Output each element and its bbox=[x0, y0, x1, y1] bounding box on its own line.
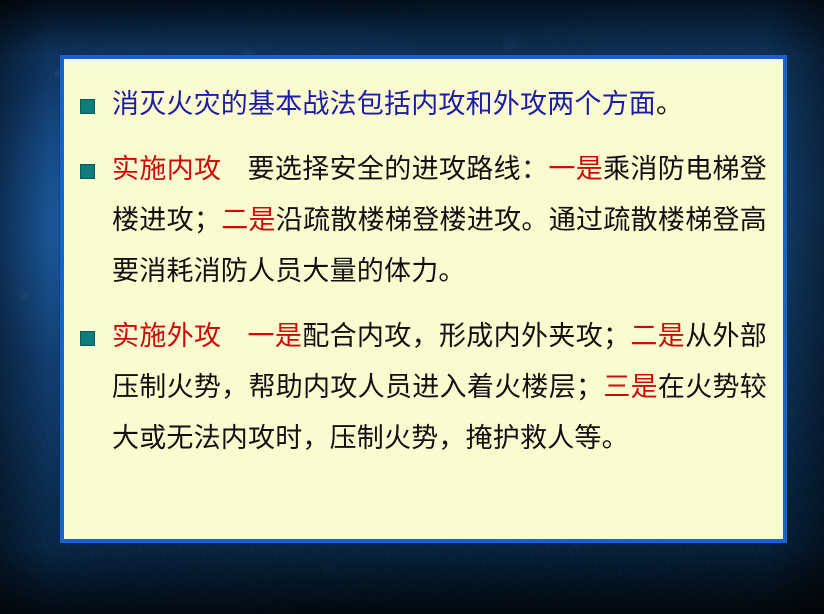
square-bullet-icon bbox=[80, 164, 95, 179]
bullet-list: 消灭火灾的基本战法包括内攻和外攻两个方面。 实施内攻要选择安全的进攻路线：一是乘… bbox=[64, 59, 783, 464]
text-run-emphasis: 一是 bbox=[247, 321, 302, 352]
list-item: 实施外攻一是配合内攻，形成内外夹攻；二是从外部压制火势，帮助内攻人员进入着火楼层… bbox=[78, 311, 767, 464]
list-item: 实施内攻要选择安全的进攻路线：一是乘消防电梯登楼进攻；二是沿疏散楼梯登楼进攻。通… bbox=[78, 144, 767, 297]
text-run-emphasis: 二是 bbox=[630, 321, 685, 352]
text-run: 消灭火灾的基本战法包括内攻和外攻两个方面 bbox=[112, 89, 656, 120]
content-panel: 消灭火灾的基本战法包括内攻和外攻两个方面。 实施内攻要选择安全的进攻路线：一是乘… bbox=[60, 55, 787, 543]
presentation-slide: 消灭火灾的基本战法包括内攻和外攻两个方面。 实施内攻要选择安全的进攻路线：一是乘… bbox=[0, 0, 824, 614]
text-run-emphasis: 三是 bbox=[603, 372, 658, 403]
square-bullet-icon bbox=[80, 331, 95, 346]
list-item: 消灭火灾的基本战法包括内攻和外攻两个方面。 bbox=[78, 79, 767, 130]
text-run-emphasis: 实施内攻 bbox=[112, 154, 221, 185]
text-run: 。 bbox=[656, 89, 683, 120]
text-run: 配合内攻，形成内外夹攻； bbox=[302, 321, 630, 352]
text-run: 要选择安全的进攻路线： bbox=[247, 154, 548, 185]
text-run-emphasis: 实施外攻 bbox=[112, 321, 221, 352]
text-run-emphasis: 一是 bbox=[548, 154, 603, 185]
text-run-emphasis: 二是 bbox=[221, 205, 276, 236]
square-bullet-icon bbox=[80, 99, 95, 114]
